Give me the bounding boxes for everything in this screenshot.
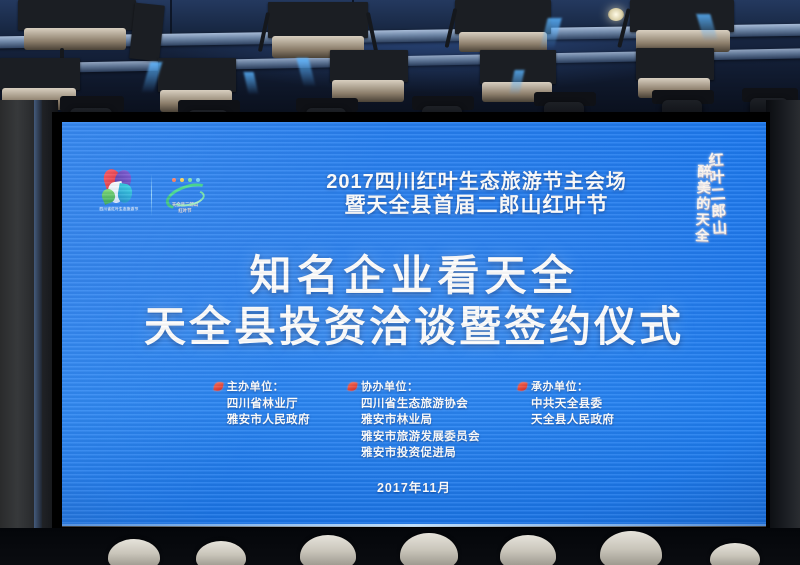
dot bbox=[196, 178, 200, 182]
petal-cyan bbox=[116, 183, 133, 204]
organizer-heading: 协办单位： bbox=[348, 378, 419, 394]
erlangshan-red-leaf-festival-logo-icon: 天全县二郎山 红叶节 bbox=[161, 169, 209, 221]
red-leaf-icon bbox=[518, 382, 527, 391]
left-wall-light-stripe bbox=[34, 100, 42, 565]
audience-head bbox=[300, 535, 356, 565]
screen-header: 四川省红叶生态旅游节 天全县二郎山 bbox=[96, 164, 736, 226]
organizer-column-host: 主办单位： 四川省林业厅 雅安市人民政府 bbox=[214, 378, 310, 429]
flower-mark-icon bbox=[99, 169, 139, 205]
organizer-entry: 中共天全县委 bbox=[518, 396, 602, 412]
main-title: 知名企业看天全 天全县投资洽谈暨签约仪式 bbox=[62, 250, 766, 352]
organizer-entry: 四川省生态旅游协会 bbox=[348, 396, 468, 412]
organizer-label: 协办单位： bbox=[361, 378, 419, 394]
sichuan-tourism-flower-logo-icon: 四川省红叶生态旅游节 bbox=[96, 169, 142, 221]
green-swoosh-icon bbox=[165, 185, 205, 202]
stage-photo-scene: 四川省红叶生态旅游节 天全县二郎山 bbox=[0, 0, 800, 565]
red-leaf-icon bbox=[214, 382, 223, 391]
organizer-heading: 主办单位： bbox=[214, 378, 285, 394]
organizer-label: 主办单位： bbox=[227, 378, 285, 394]
audience-row bbox=[0, 528, 800, 565]
organizer-label: 承办单位： bbox=[531, 378, 589, 394]
logo-group: 四川省红叶生态旅游节 天全县二郎山 bbox=[96, 169, 209, 221]
screen-bottom-edge bbox=[62, 524, 766, 527]
dot bbox=[180, 178, 184, 182]
organizer-entry: 雅安市旅游发展委员会 bbox=[348, 429, 480, 445]
red-leaf-icon bbox=[348, 382, 357, 391]
organizer-entry: 四川省林业厅 bbox=[214, 396, 298, 412]
main-title-line-1: 知名企业看天全 bbox=[62, 250, 766, 301]
organizer-column-undertaker: 承办单位： 中共天全县委 天全县人民政府 bbox=[518, 378, 614, 429]
organizer-entry: 雅安市投资促进局 bbox=[348, 445, 456, 461]
left-wall bbox=[0, 100, 58, 565]
audience-head bbox=[400, 533, 458, 565]
right-wall bbox=[766, 100, 800, 565]
banner-line-2: 暨天全县首届二郎山红叶节 bbox=[345, 194, 609, 219]
organizer-heading: 承办单位： bbox=[518, 378, 589, 394]
logo-divider bbox=[151, 174, 152, 216]
ceiling-downlight bbox=[608, 8, 624, 21]
organizer-section: 主办单位： 四川省林业厅 雅安市人民政府 协办单位： 四川省生态旅游协会 雅安市… bbox=[62, 378, 766, 461]
main-title-line-2: 天全县投资洽谈暨签约仪式 bbox=[62, 301, 766, 352]
left-logo-caption: 四川省红叶生态旅游节 bbox=[100, 207, 139, 212]
audience-head bbox=[196, 541, 246, 565]
dot bbox=[172, 178, 176, 182]
banner-line-1: 2017四川红叶生态旅游节主会场 bbox=[326, 171, 627, 195]
event-date: 2017年11月 bbox=[62, 477, 766, 496]
organizer-entry: 天全县人民政府 bbox=[518, 412, 614, 428]
dot bbox=[188, 178, 192, 182]
event-banner: 2017四川红叶生态旅游节主会场 暨天全县首届二郎山红叶节 bbox=[209, 171, 736, 219]
led-screen: 四川省红叶生态旅游节 天全县二郎山 bbox=[62, 122, 766, 526]
organizer-entry: 雅安市人民政府 bbox=[214, 412, 310, 428]
audience-head bbox=[710, 543, 760, 565]
audience-head bbox=[600, 531, 662, 565]
audience-head bbox=[500, 535, 556, 565]
organizer-entry: 雅安市林业局 bbox=[348, 412, 432, 428]
organizer-column-coorganizer: 协办单位： 四川省生态旅游协会 雅安市林业局 雅安市旅游发展委员会 雅安市投资促… bbox=[348, 378, 480, 461]
audience-head bbox=[108, 539, 160, 565]
